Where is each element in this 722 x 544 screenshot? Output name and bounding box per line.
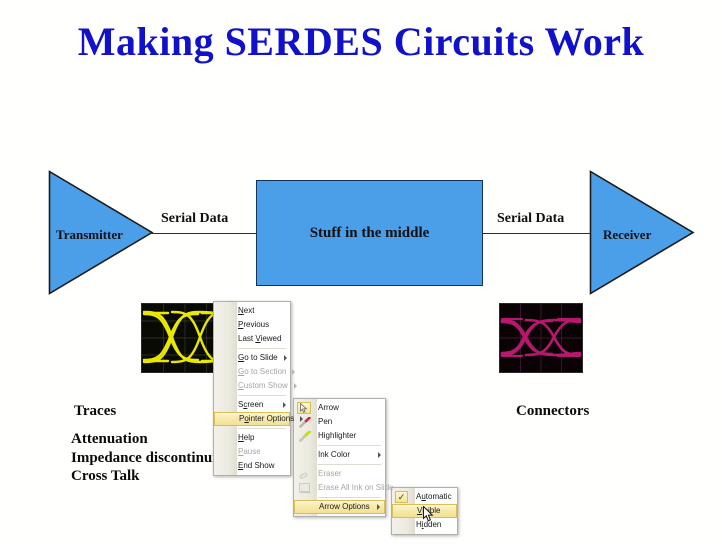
menu-item-label: Custom Show	[238, 379, 288, 393]
submenu-chevron-right-icon	[292, 369, 295, 375]
menu-item-label: Highlighter	[318, 429, 381, 443]
menu-item-eraser: Eraser	[294, 467, 385, 481]
link-line-right	[483, 233, 593, 234]
menu-item-label: Help	[238, 431, 286, 445]
submenu-chevron-right-icon	[294, 383, 297, 389]
link-label-right: Serial Data	[497, 211, 564, 227]
menu-item-highlighter[interactable]: Highlighter	[294, 429, 385, 443]
slideshow-context-menu[interactable]: NextPreviousLast ViewedGo to SlideGo to …	[213, 301, 291, 476]
mouse-cursor	[423, 506, 435, 528]
menu-item-label: Automatic	[416, 490, 453, 504]
menu-item-label: Go to Section	[238, 365, 286, 379]
menu-item-label: Pointer Options	[239, 412, 294, 426]
menu-item-label: Ink Color	[318, 448, 372, 462]
menu-item-arrow-options[interactable]: Arrow Options	[294, 500, 385, 514]
menu-item-help[interactable]: Help	[214, 431, 290, 445]
annotation-connectors: Connectors	[516, 403, 589, 420]
menu-item-pointer-options[interactable]: Pointer Options	[214, 412, 290, 426]
receiver-eye-diagram	[499, 303, 583, 373]
menu-item-label: Arrow	[318, 401, 381, 415]
menu-item-label: Previous	[238, 318, 286, 332]
menu-item-label: Pen	[318, 415, 381, 429]
pointer-options-submenu[interactable]: ArrowPenHighlighterInk ColorEraserErase …	[293, 398, 386, 517]
menu-separator	[318, 497, 381, 498]
arrow-cursor-icon	[297, 402, 311, 414]
menu-item-label: Pause	[238, 445, 286, 459]
menu-item-go-to-section: Go to Section	[214, 365, 290, 379]
menu-item-label: Eraser	[318, 467, 381, 481]
menu-item-go-to-slide[interactable]: Go to Slide	[214, 351, 290, 365]
menu-separator	[238, 428, 286, 429]
menu-item-label: Go to Slide	[238, 351, 278, 365]
highlighter-icon	[297, 430, 313, 442]
menu-separator	[238, 348, 286, 349]
menu-item-erase-all-ink-on-slide: Erase All Ink on Slide	[294, 481, 385, 495]
pen-icon	[297, 416, 313, 428]
submenu-chevron-right-icon	[377, 504, 380, 510]
menu-item-automatic[interactable]: ✓Automatic	[392, 490, 457, 504]
menu-item-label: Last Viewed	[238, 332, 286, 346]
menu-separator	[318, 445, 381, 446]
menu-separator	[318, 464, 381, 465]
menu-item-last-viewed[interactable]: Last Viewed	[214, 332, 290, 346]
menu-item-previous[interactable]: Previous	[214, 318, 290, 332]
eraser-icon	[297, 468, 313, 480]
menu-item-end-show[interactable]: End Show	[214, 459, 290, 473]
transmitter-label: Transmitter	[56, 227, 123, 243]
menu-item-arrow[interactable]: Arrow	[294, 401, 385, 415]
erase-all-icon	[297, 482, 313, 494]
menu-item-pause: Pause	[214, 445, 290, 459]
middle-block-label: Stuff in the middle	[257, 225, 482, 242]
link-label-left: Serial Data	[161, 211, 228, 227]
submenu-chevron-right-icon	[378, 452, 381, 458]
annotation-attenuation: Attenuation	[71, 431, 148, 448]
submenu-chevron-right-icon	[284, 355, 287, 361]
annotation-crosstalk: Cross Talk	[71, 468, 140, 485]
menu-item-label: Next	[238, 304, 286, 318]
menu-item-pen[interactable]: Pen	[294, 415, 385, 429]
receiver-label: Receiver	[603, 227, 651, 243]
menu-separator	[238, 395, 286, 396]
middle-block: Stuff in the middle	[256, 180, 483, 286]
checkmark-icon: ✓	[395, 491, 408, 503]
submenu-chevron-right-icon	[283, 402, 286, 408]
link-line-left	[150, 233, 257, 234]
menu-item-label: Screen	[238, 398, 277, 412]
menu-item-label: End Show	[238, 459, 286, 473]
presentation-slide: Making SERDES Circuits Work Transmitter …	[0, 0, 722, 544]
annotation-traces: Traces	[74, 403, 116, 420]
menu-item-label: Arrow Options	[319, 500, 371, 514]
menu-item-label: Erase All Ink on Slide	[318, 481, 394, 495]
menu-item-screen[interactable]: Screen	[214, 398, 290, 412]
menu-item-custom-show: Custom Show	[214, 379, 290, 393]
menu-item-ink-color[interactable]: Ink Color	[294, 448, 385, 462]
page-title: Making SERDES Circuits Work	[0, 18, 722, 65]
menu-item-next[interactable]: Next	[214, 304, 290, 318]
